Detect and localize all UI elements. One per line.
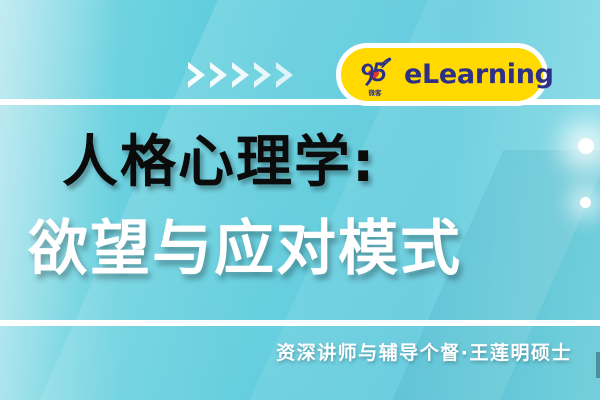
play-arrow-icon [232, 62, 249, 88]
presenter-credit: 资深讲师与辅导个督·王莲明硕士 [276, 338, 572, 365]
logo-95-mark-icon: 微客 [355, 53, 395, 97]
brand-wordmark: eLearning [404, 61, 554, 88]
brand-logo-badge: 微客 eLearning [336, 43, 548, 106]
course-title-line-1: 人格心理学: [62, 135, 376, 191]
banner-title-block: 人格心理学: 欲望与应对模式 [0, 105, 600, 320]
play-arrow-icon [276, 62, 293, 88]
course-banner: 微客 eLearning 人格心理学: 欲望与应对模式 资深讲师与辅导个督·王莲… [0, 0, 600, 400]
play-arrow-icon [254, 62, 271, 88]
course-title-line-2: 欲望与应对模式 [28, 219, 462, 279]
play-arrow-icon [188, 62, 205, 88]
play-arrow-icon [210, 62, 227, 88]
svg-text:微客: 微客 [368, 88, 383, 97]
banner-header: 微客 eLearning [0, 0, 600, 99]
arrow-marquee [188, 62, 293, 88]
banner-footer: 资深讲师与辅导个督·王莲明硕士 [0, 326, 600, 400]
